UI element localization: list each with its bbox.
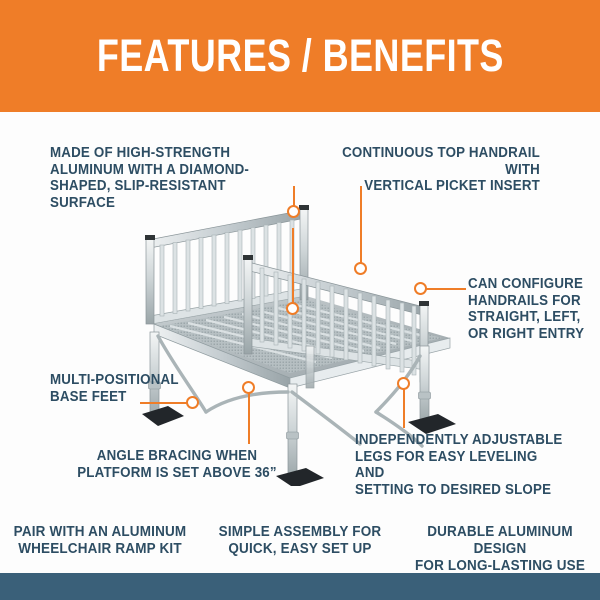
caption-ramp-kit: PAIR WITH AN ALUMINUM WHEELCHAIR RAMP KI… [7, 524, 193, 572]
callout-marker-bracing [242, 381, 255, 394]
bottom-captions: PAIR WITH AN ALUMINUM WHEELCHAIR RAMP KI… [0, 524, 600, 572]
leader-line-legs [403, 388, 405, 428]
callout-surface: MADE OF HIGH-STRENGTH ALUMINUM WITH A DI… [50, 145, 275, 211]
infographic-page: FEATURES / BENEFITS [0, 0, 600, 600]
callout-marker-legs [397, 377, 410, 390]
leader-line-surface [292, 228, 294, 304]
header-banner: FEATURES / BENEFITS [0, 0, 600, 112]
leader-line-handrail-b [360, 186, 362, 268]
callout-marker-handrail-b [354, 262, 367, 275]
page-title: FEATURES / BENEFITS [97, 30, 504, 82]
callout-base-feet: MULTI-POSITIONAL BASE FEET [50, 372, 188, 405]
callout-bracing: ANGLE BRACING WHEN PLATFORM IS SET ABOVE… [71, 448, 283, 481]
caption-durable: DURABLE ALUMINUM DESIGN FOR LONG-LASTING… [407, 524, 593, 572]
callout-marker-surface [286, 302, 299, 315]
callout-legs: INDEPENDENTLY ADJUSTABLE LEGS FOR EASY L… [355, 432, 567, 498]
leader-line-bracing [248, 392, 250, 444]
footer-bar [0, 573, 600, 600]
callout-marker-handrail-a [287, 205, 300, 218]
callout-handrail: CONTINUOUS TOP HANDRAIL WITH VERTICAL PI… [310, 145, 540, 195]
callout-marker-configure [414, 282, 427, 295]
caption-assembly: SIMPLE ASSEMBLY FOR QUICK, EASY SET UP [207, 524, 393, 572]
callout-configure: CAN CONFIGURE HANDRAILS FOR STRAIGHT, LE… [468, 276, 589, 342]
